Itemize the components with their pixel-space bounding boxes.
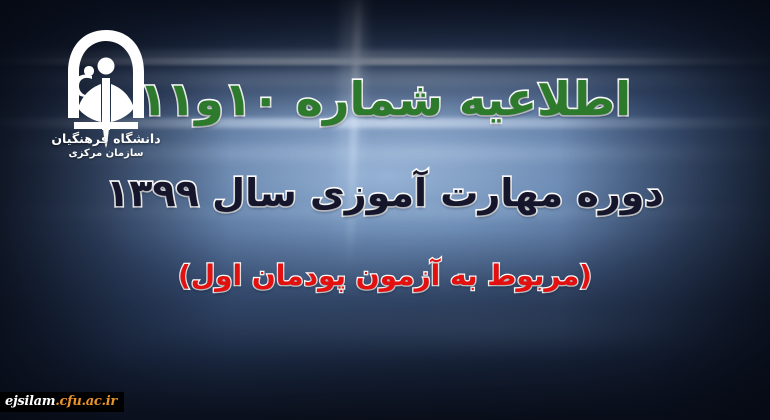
logo-caption: دانشگاه فرهنگیان سازمان مرکزی <box>48 131 164 160</box>
logo-caption-organization: سازمان مرکزی <box>48 148 164 161</box>
logo-caption-university: دانشگاه فرهنگیان <box>48 131 164 147</box>
announcement-banner: دانشگاه فرهنگیان سازمان مرکزی اطلاعیه شم… <box>0 0 770 420</box>
headline-exam-note: (مربوط به آزمون پودمان اول) <box>0 258 770 294</box>
site-watermark: ejsilam.cfu.ac.ir <box>0 392 124 412</box>
watermark-site-domain: .cfu.ac.ir <box>55 394 117 409</box>
headline-course-year: دوره مهارت آموزی سال ۱۳۹۹ <box>0 170 770 216</box>
watermark-site-name: ejsilam <box>5 394 55 409</box>
headline-announcement-number: اطلاعیه شماره ۱۰و۱۱ <box>0 72 770 126</box>
